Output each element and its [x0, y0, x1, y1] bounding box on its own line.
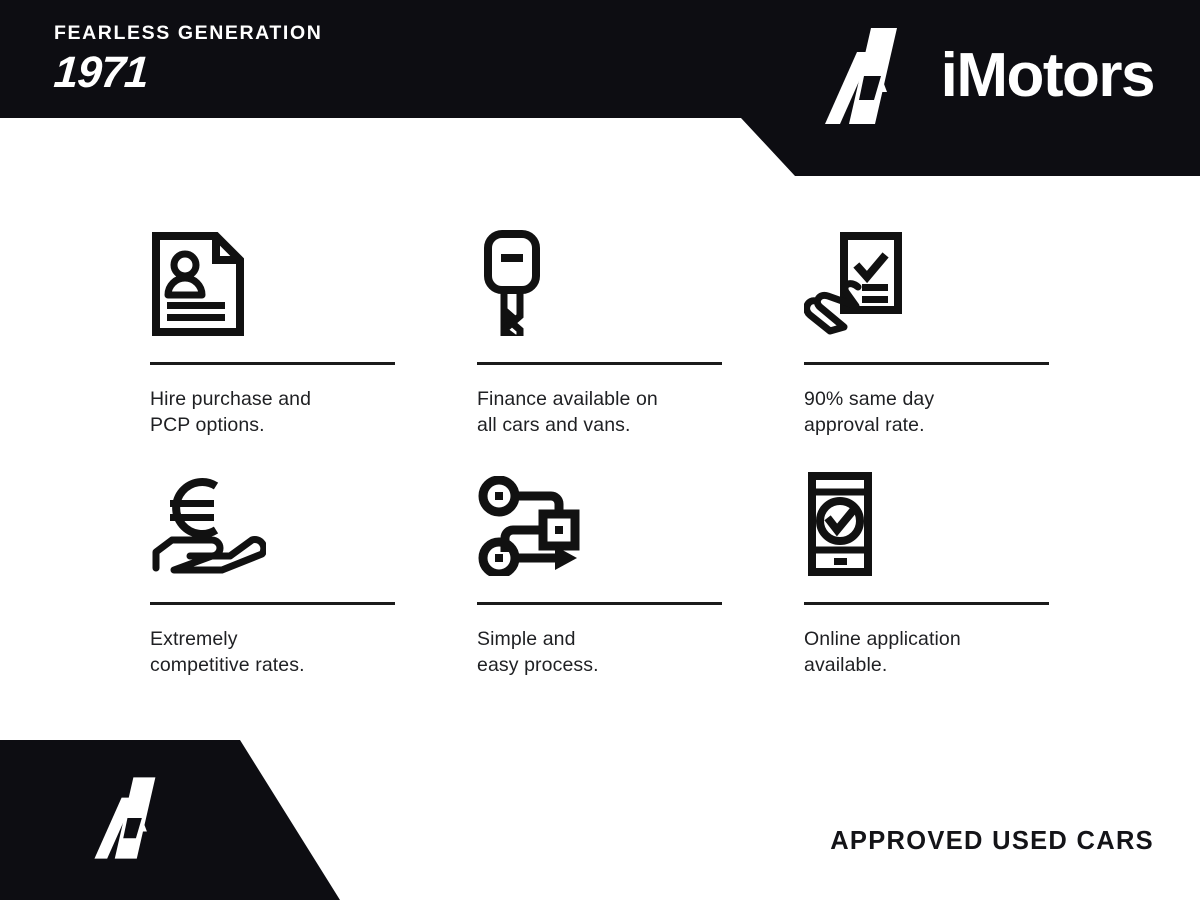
feature-divider [150, 362, 395, 365]
brand-name: iMotors [941, 45, 1154, 107]
feature-icon-wrap [804, 228, 1050, 336]
hand-holding-checklist-icon [804, 232, 904, 336]
feature-label: Online application available. [804, 627, 1050, 678]
feature-divider [804, 362, 1049, 365]
feature-icon-wrap [477, 228, 804, 336]
feature-divider [150, 602, 395, 605]
imotors-chevron-mark-icon [815, 24, 919, 128]
feature-divider [804, 602, 1049, 605]
tagline-text: FEARLESS GENERATION [54, 24, 474, 44]
feature-card-simple-process: Simple and easy process. [477, 468, 804, 708]
feature-icon-wrap [150, 468, 477, 576]
fearless-generation-lockup: FEARLESS GENERATION 1971 [54, 24, 474, 95]
document-person-icon [150, 232, 246, 336]
feature-grid: Hire purchase and PCP options. Finance a… [150, 228, 1050, 708]
feature-icon-wrap [804, 468, 1050, 576]
tagline-year: 1971 [52, 51, 149, 95]
footer-tagline: APPROVED USED CARS [830, 827, 1154, 856]
feature-icon-wrap [477, 468, 804, 576]
feature-icon-wrap [150, 228, 477, 336]
feature-label: 90% same day approval rate. [804, 387, 1050, 438]
feature-label: Finance available on all cars and vans. [477, 387, 804, 438]
feature-card-competitive-rates: Extremely competitive rates. [150, 468, 477, 708]
feature-card-hire-purchase: Hire purchase and PCP options. [150, 228, 477, 468]
feature-label: Extremely competitive rates. [150, 627, 477, 678]
footer-imotors-chevron-mark-icon [86, 774, 174, 862]
feature-card-finance-available: Finance available on all cars and vans. [477, 228, 804, 468]
feature-label: Hire purchase and PCP options. [150, 387, 477, 438]
brand-lockup[interactable]: iMotors [815, 24, 1154, 128]
process-flow-icon [477, 476, 585, 576]
smartphone-check-icon [804, 472, 876, 576]
promo-banner: FEARLESS GENERATION 1971 iMotors [0, 0, 1200, 900]
feature-divider [477, 362, 722, 365]
feature-card-approval-rate: 90% same day approval rate. [804, 228, 1050, 468]
feature-divider [477, 602, 722, 605]
feature-label: Simple and easy process. [477, 627, 804, 678]
euro-in-hand-icon [150, 472, 266, 576]
feature-card-online-application: Online application available. [804, 468, 1050, 708]
car-key-icon [477, 230, 547, 336]
